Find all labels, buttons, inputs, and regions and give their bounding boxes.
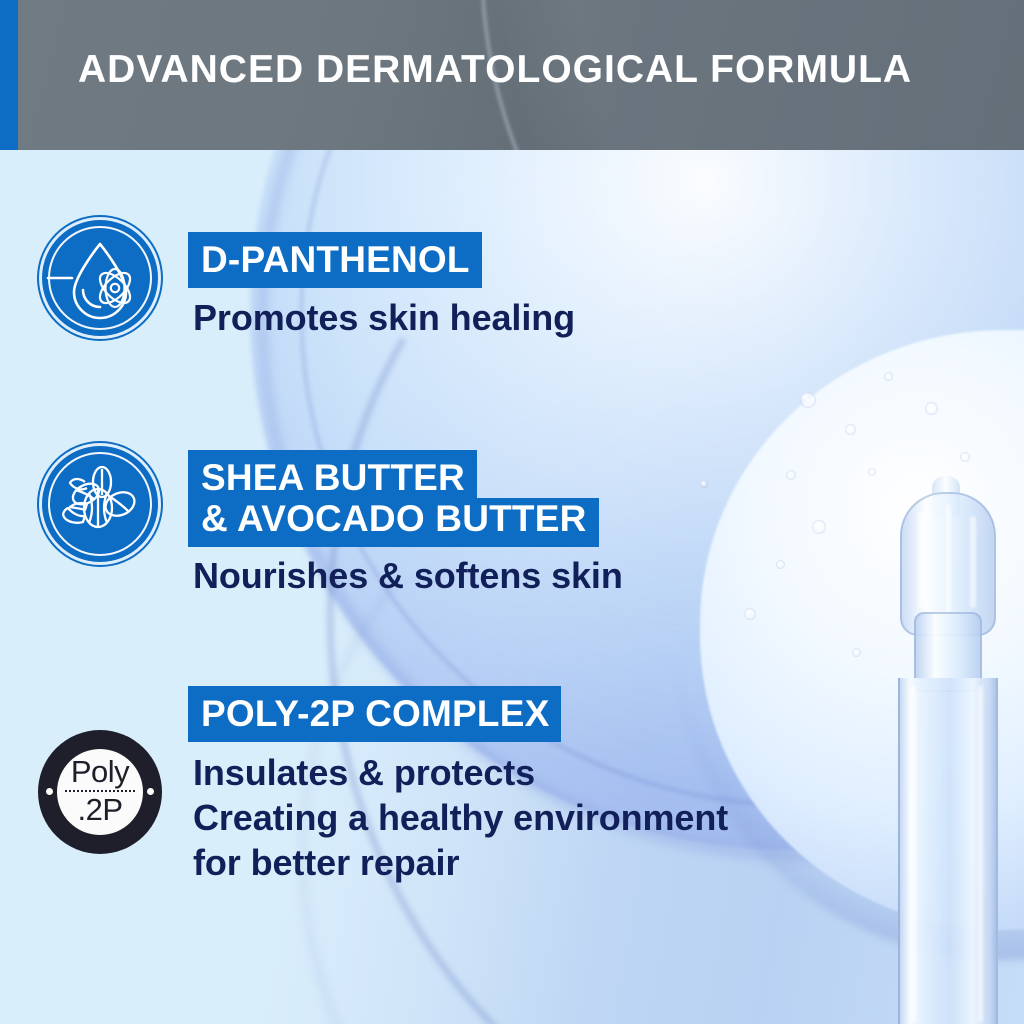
feature-text-block: D-PANTHENOL Promotes skin healing [188, 232, 575, 338]
header-accent-bar [0, 0, 18, 150]
gel-bubble [960, 452, 970, 462]
ampoule-highlight [910, 686, 916, 1022]
feature-title-row: D-PANTHENOL [188, 232, 575, 288]
feature-title-line: POLY-2P COMPLEX [188, 686, 561, 742]
ampoule-highlight [978, 686, 983, 1022]
badge-label-top: Poly [38, 756, 162, 787]
feature-title-row: POLY-2P COMPLEX [188, 686, 728, 742]
feature-text-block: POLY-2P COMPLEX Insulates & protects Cre… [188, 686, 728, 883]
gel-bubble [776, 560, 785, 569]
feature-title-row: & AVOCADO BUTTER [188, 498, 623, 547]
gel-bubble [786, 470, 796, 480]
gel-bubble [852, 648, 861, 657]
feature-description: for better repair [193, 842, 728, 883]
feature-title-line: SHEA BUTTER [188, 450, 477, 498]
ampoule-highlight [970, 516, 976, 608]
header-banner: ADVANCED DERMATOLOGICAL FORMULA [0, 0, 1024, 150]
gel-bubble [800, 392, 816, 408]
feature-text-block: SHEA BUTTER & AVOCADO BUTTER Nourishes &… [188, 450, 623, 596]
infographic-root: ADVANCED DERMATOLOGICAL FORMULA D-PANTHE… [0, 0, 1024, 1024]
badge-label-bottom: .2P [38, 794, 162, 825]
feature-description: Creating a healthy environment [193, 797, 728, 838]
gel-bubble [868, 468, 876, 476]
feature-title-line: D-PANTHENOL [188, 232, 482, 288]
gel-bubble [925, 402, 938, 415]
gel-bubble [812, 520, 826, 534]
shea-nuts-icon [42, 446, 158, 562]
feature-description: Nourishes & softens skin [193, 555, 623, 596]
gel-bubble [744, 608, 756, 620]
feature-title-row: SHEA BUTTER [188, 450, 623, 498]
ampoule-body [898, 678, 998, 1024]
droplet-glyph [42, 220, 158, 336]
gel-bubble [700, 480, 708, 488]
water-droplet-molecule-icon [42, 220, 158, 336]
shea-nuts-glyph [42, 446, 158, 562]
ampoule-highlight [918, 512, 925, 608]
feature-title-line: & AVOCADO BUTTER [188, 498, 599, 547]
gel-bubble [845, 424, 856, 435]
feature-description: Promotes skin healing [193, 297, 575, 338]
ampoule-highlight [946, 504, 951, 614]
poly-2p-badge-icon: Poly .2P [38, 730, 162, 854]
gel-bubble [884, 372, 893, 381]
feature-description: Insulates & protects [193, 752, 728, 793]
glass-ampoule [888, 492, 1004, 1024]
page-title: ADVANCED DERMATOLOGICAL FORMULA [78, 48, 912, 92]
